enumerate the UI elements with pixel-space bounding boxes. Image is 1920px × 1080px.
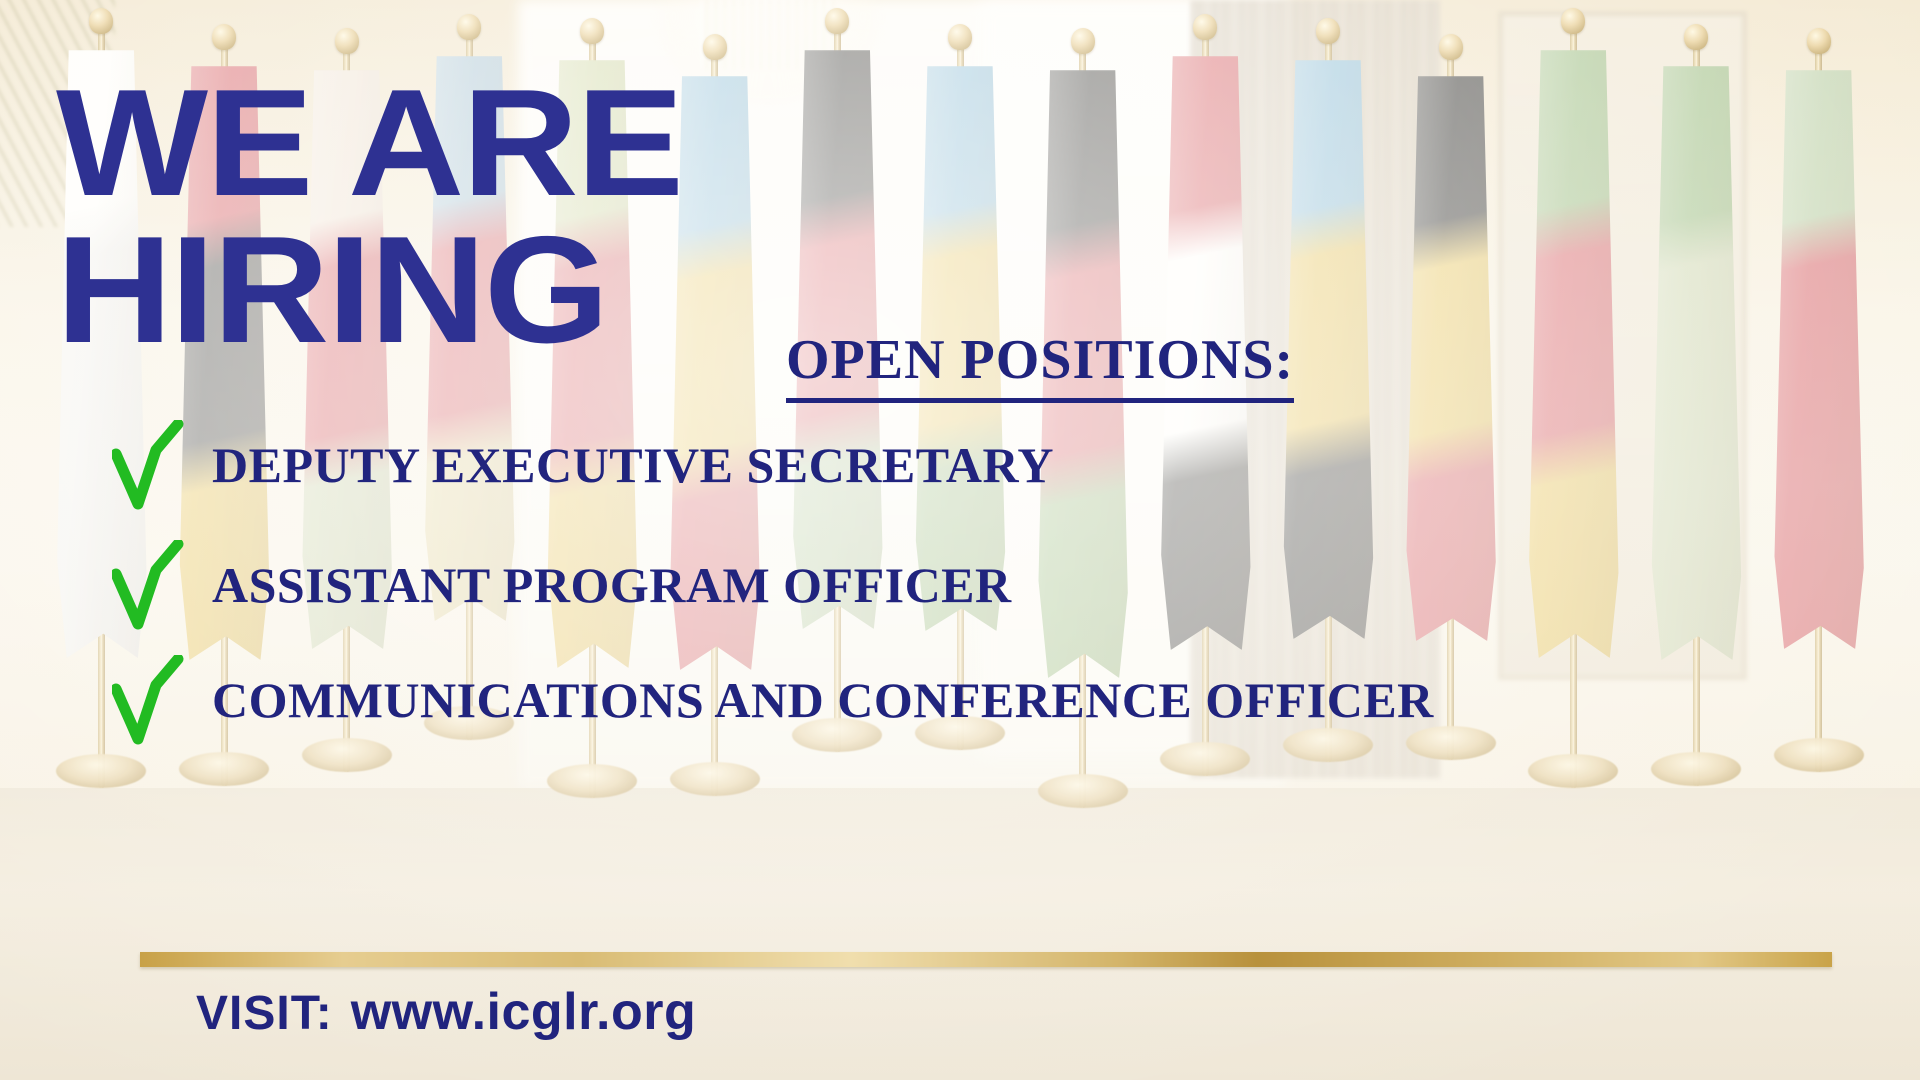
visit-label: VISIT: — [196, 986, 333, 1041]
visit-footer: VISIT: www.icglr.org — [196, 982, 696, 1042]
page-title: WE ARE HIRING — [56, 70, 682, 365]
hiring-poster: WE ARE HIRING OPEN POSITIONS: DEPUTY EXE… — [0, 0, 1920, 1080]
green-checkmark-icon — [112, 540, 186, 630]
website-url[interactable]: www.icglr.org — [351, 982, 697, 1042]
green-checkmark-icon — [112, 655, 186, 745]
list-item: ASSISTANT PROGRAM OFFICER — [112, 540, 1012, 630]
green-checkmark-icon — [112, 420, 186, 510]
position-label: DEPUTY EXECUTIVE SECRETARY — [212, 436, 1054, 494]
open-positions-heading: OPEN POSITIONS: — [786, 328, 1294, 403]
position-label: ASSISTANT PROGRAM OFFICER — [212, 556, 1012, 614]
list-item: DEPUTY EXECUTIVE SECRETARY — [112, 420, 1054, 510]
gold-divider-bar — [140, 952, 1832, 967]
poster-content: WE ARE HIRING OPEN POSITIONS: DEPUTY EXE… — [0, 0, 1920, 1080]
list-item: COMMUNICATIONS AND CONFERENCE OFFICER — [112, 655, 1434, 745]
position-label: COMMUNICATIONS AND CONFERENCE OFFICER — [212, 671, 1434, 729]
